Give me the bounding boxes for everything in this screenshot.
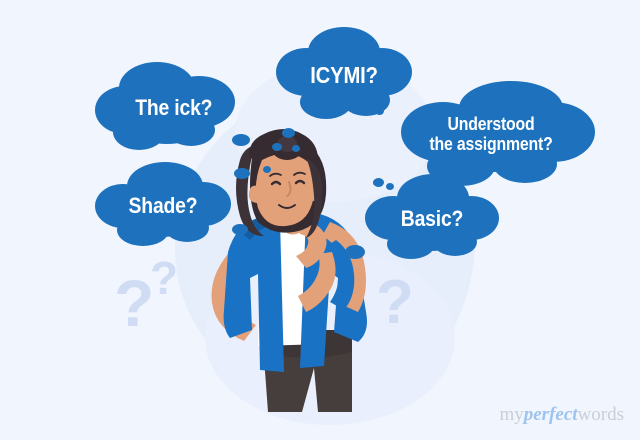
logo-part-my: my bbox=[499, 404, 523, 425]
logo-part-words: words bbox=[578, 404, 624, 425]
thought-dot bbox=[234, 168, 250, 179]
thought-dot bbox=[263, 166, 271, 173]
brand-logo[interactable]: myperfectwords bbox=[499, 404, 624, 426]
thought-bubble-the-ick[interactable]: The ick? bbox=[95, 58, 245, 154]
question-mark-icon: ? bbox=[376, 272, 414, 334]
thought-dot bbox=[282, 128, 295, 138]
question-mark-icon: ? bbox=[114, 270, 154, 336]
thought-bubble-label: Basic? bbox=[373, 172, 491, 264]
thought-dot bbox=[292, 145, 300, 152]
thought-bubble-basic[interactable]: Basic? bbox=[365, 172, 499, 262]
background-blob-lower bbox=[205, 250, 455, 425]
thought-dot bbox=[345, 245, 365, 259]
thought-bubble-shade[interactable]: Shade? bbox=[95, 160, 231, 248]
thought-bubble-label: Shade? bbox=[103, 160, 223, 250]
thought-dot bbox=[232, 224, 248, 235]
logo-part-perfect: perfect bbox=[524, 404, 578, 425]
thought-bubble-label: The ick? bbox=[104, 58, 240, 156]
illustration-canvas: ? ? ? bbox=[0, 0, 640, 440]
question-mark-icon: ? bbox=[150, 255, 178, 301]
thought-dot bbox=[272, 143, 282, 151]
